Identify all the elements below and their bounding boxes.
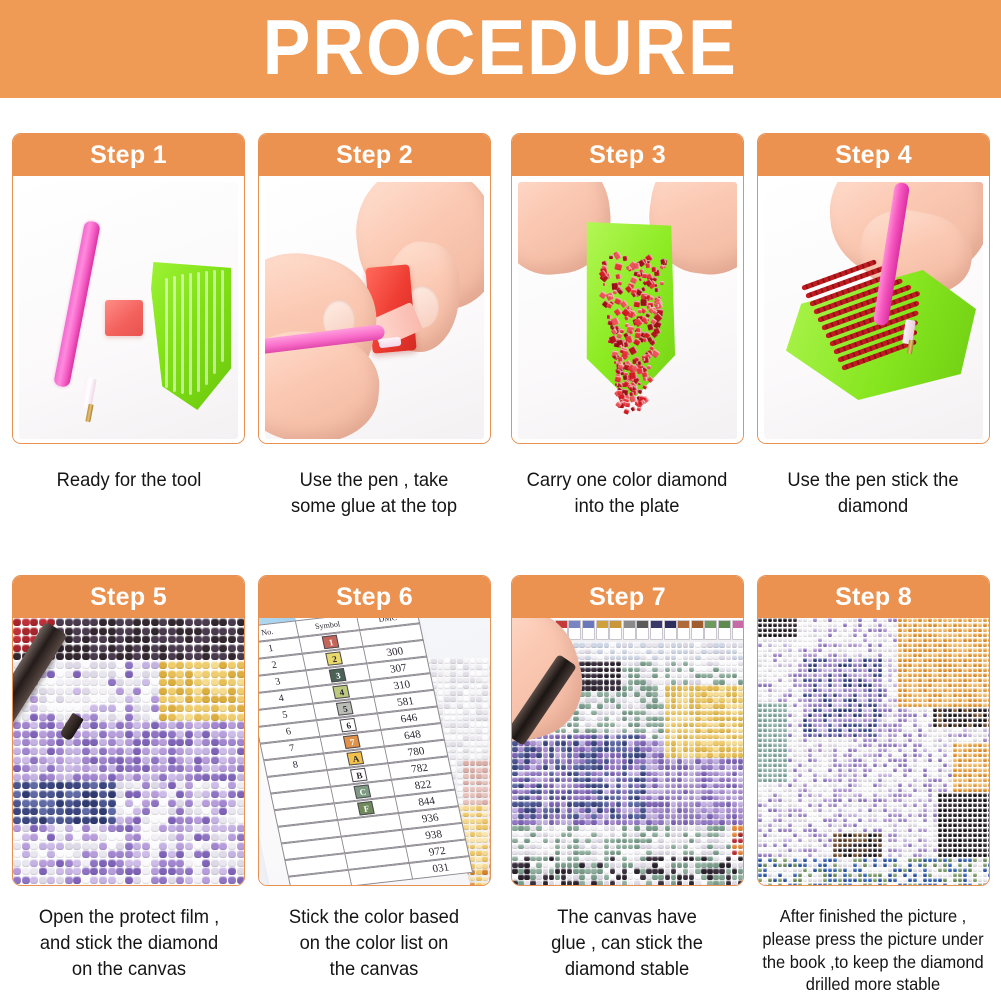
diamond-bead (82, 876, 90, 884)
diamond-bead (116, 747, 124, 755)
diamond-bead (65, 773, 73, 781)
diamond-bead (82, 730, 90, 738)
diamond-bead (883, 688, 887, 692)
diamond-bead (908, 708, 912, 712)
diamond-bead (99, 687, 107, 695)
diamond-bead (888, 648, 892, 652)
step-1-header-label: Step 1 (90, 143, 167, 168)
diamond-bead (640, 758, 646, 764)
diamond-bead (591, 667, 597, 673)
diamond-bead (883, 653, 887, 657)
red-diamond (624, 315, 629, 320)
diamond-bead (202, 635, 210, 643)
step-4-image (764, 182, 983, 439)
diamond-bead (151, 807, 159, 815)
diamond-bead (604, 758, 610, 764)
diamond-bead (634, 661, 640, 667)
diamond-bead (958, 633, 962, 637)
diamond-bead (73, 704, 81, 712)
diamond-bead (695, 649, 701, 655)
diamond-bead (908, 633, 912, 637)
diamond-bead (116, 764, 124, 772)
diamond-bead (82, 738, 90, 746)
diamond-bead (968, 668, 972, 672)
diamond-bead (726, 844, 732, 850)
diamond-bead (482, 664, 488, 670)
diamond-bead (73, 670, 81, 678)
diamond-bead (646, 758, 652, 764)
diamond-bead (888, 633, 892, 637)
diamond-bead (913, 688, 917, 692)
diamond-bead (561, 868, 567, 874)
diamond-bead (13, 730, 21, 738)
diamond-bead (30, 747, 38, 755)
diamond-bead (665, 862, 671, 868)
diamond-bead (719, 661, 725, 667)
diamond-bead (567, 819, 573, 825)
diamond-bead (585, 795, 591, 801)
diamond-bead (828, 673, 832, 677)
diamond-bead (536, 819, 542, 825)
diamond-bead (738, 673, 743, 679)
diamond-bead (463, 728, 469, 734)
diamond-bead (983, 663, 987, 667)
diamond-bead (818, 703, 822, 707)
diamond-bead (988, 663, 989, 667)
diamond-bead (82, 816, 90, 824)
diamond-bead (431, 671, 437, 677)
diamond-bead (843, 698, 847, 702)
diamond-bead (888, 658, 892, 662)
diamond-bead (476, 716, 482, 722)
diamond-bead (476, 850, 482, 856)
diamond-bead (457, 690, 463, 696)
diamond-bead (658, 789, 664, 795)
diamond-bead (683, 813, 689, 819)
diamond-bead (833, 678, 837, 682)
diamond-bead (883, 638, 887, 642)
diamond-bead (726, 655, 732, 661)
diamond-bead (543, 862, 549, 868)
diamond-bead (444, 658, 450, 664)
diamond-bead (908, 668, 912, 672)
diamond-bead (848, 668, 852, 672)
diamond-bead (873, 623, 877, 627)
diamond-bead (732, 685, 738, 691)
diamond-bead (888, 623, 892, 627)
diamond-bead (963, 698, 967, 702)
diamond-bead (536, 850, 542, 856)
diamond-bead (457, 767, 463, 773)
diamond-bead (838, 663, 842, 667)
diamond-bead (707, 825, 713, 831)
diamond-bead (634, 819, 640, 825)
diamond-bead (938, 648, 942, 652)
diamond-bead (591, 777, 597, 783)
diamond-bead (142, 799, 150, 807)
diamond-bead (689, 783, 695, 789)
diamond-bead (73, 764, 81, 772)
diamond-bead (604, 880, 610, 886)
diamond-bead (943, 653, 947, 657)
diamond-bead (530, 832, 536, 838)
diamond-bead (530, 825, 536, 831)
diamond-bead (237, 756, 244, 764)
diamond-bead (963, 673, 967, 677)
diamond-bead (689, 642, 695, 648)
diamond-bead (56, 747, 64, 755)
legend-cell (609, 620, 622, 640)
diamond-bead (555, 789, 561, 795)
diamond-bead (778, 658, 782, 662)
diamond-bead (482, 690, 488, 696)
diamond-bead (858, 633, 862, 637)
diamond-bead (457, 735, 463, 741)
diamond-bead (888, 673, 892, 677)
diamond-bead (622, 856, 628, 862)
diamond-bead (738, 716, 743, 722)
diamond-bead (778, 683, 782, 687)
diamond-bead (683, 655, 689, 661)
diamond-bead (622, 673, 628, 679)
diamond-bead (616, 777, 622, 783)
diamond-bead (763, 693, 767, 697)
diamond-bead (176, 807, 184, 815)
diamond-bead (585, 880, 591, 886)
red-diamond (653, 327, 661, 335)
diamond-bead (788, 678, 792, 682)
diamond-bead (470, 767, 476, 773)
diamond-bead (194, 876, 202, 884)
diamond-bead (893, 618, 897, 622)
diamond-bead (818, 683, 822, 687)
diamond-bead (22, 773, 30, 781)
diamond-bead (973, 643, 977, 647)
diamond-bead (39, 687, 47, 695)
diamond-bead (726, 691, 732, 697)
diamond-bead (470, 818, 476, 824)
diamond-bead (489, 684, 490, 690)
diamond-bead (658, 874, 664, 880)
diamond-bead (610, 862, 616, 868)
diamond-bead (963, 703, 967, 707)
diamond-bead (858, 668, 862, 672)
diamond-bead (211, 730, 219, 738)
diamond-bead (567, 740, 573, 746)
diamond-bead (903, 673, 907, 677)
step-7-header: Step 7 (512, 576, 743, 618)
diamond-bead (948, 648, 952, 652)
diamond-bead (610, 740, 616, 746)
diamond-bead (943, 708, 947, 712)
diamond-bead (923, 703, 927, 707)
diamond-bead (646, 850, 652, 856)
diamond-bead (13, 850, 21, 858)
diamond-bead (628, 673, 634, 679)
diamond-bead (159, 721, 167, 729)
diamond-bead (82, 764, 90, 772)
diamond-bead (463, 786, 469, 792)
diamond-bead (573, 795, 579, 801)
diamond-bead (39, 730, 47, 738)
diamond-bead (788, 658, 792, 662)
diamond-bead (168, 850, 176, 858)
diamond-bead (763, 683, 767, 687)
diamond-bead (476, 722, 482, 728)
diamond-bead (194, 833, 202, 841)
diamond-bead (803, 698, 807, 702)
diamond-bead (978, 638, 982, 642)
diamond-bead (597, 807, 603, 813)
diamond-bead (168, 816, 176, 824)
red-diamond (613, 308, 621, 316)
diamond-bead (873, 663, 877, 667)
diamond-bead (543, 838, 549, 844)
step-2-body (259, 176, 490, 444)
diamond-bead (125, 678, 133, 686)
diamond-bead (159, 687, 167, 695)
diamond-bead (848, 638, 852, 642)
diamond-bead (489, 690, 490, 696)
diamond-bead (689, 758, 695, 764)
diamond-bead (903, 638, 907, 642)
diamond-bead (671, 880, 677, 886)
diamond-bead (640, 703, 646, 709)
diamond-bead (82, 799, 90, 807)
diamond-bead (883, 673, 887, 677)
diamond-bead (610, 752, 616, 758)
diamond-bead (701, 874, 707, 880)
diamond-bead (476, 882, 482, 886)
diamond-bead (923, 658, 927, 662)
diamond-bead (658, 679, 664, 685)
diamond-bead (489, 863, 490, 869)
diamond-bead (823, 693, 827, 697)
diamond-bead (671, 752, 677, 758)
diamond-bead (518, 758, 524, 764)
diamond-bead (803, 653, 807, 657)
diamond-bead (585, 819, 591, 825)
diamond-bead (176, 859, 184, 867)
diamond-bead (622, 838, 628, 844)
diamond-bead (838, 673, 842, 677)
diamond-bead (808, 623, 812, 627)
diamond-bead (168, 635, 176, 643)
diamond-bead (116, 773, 124, 781)
tray-groove (221, 270, 224, 362)
diamond-bead (159, 661, 167, 669)
diamond-bead (671, 856, 677, 862)
diamond-bead (116, 670, 124, 678)
diamond-bead (983, 633, 987, 637)
diamond-bead (168, 799, 176, 807)
diamond-bead (833, 653, 837, 657)
diamond-bead (108, 747, 116, 755)
diamond-bead (813, 663, 817, 667)
diamond-bead (843, 703, 847, 707)
diamond-bead (671, 655, 677, 661)
diamond-bead (591, 789, 597, 795)
diamond-bead (561, 728, 567, 734)
diamond-bead (585, 777, 591, 783)
diamond-bead (652, 649, 658, 655)
diamond-bead (151, 756, 159, 764)
diamond-bead (99, 695, 107, 703)
diamond-bead (938, 653, 942, 657)
diamond-bead (677, 862, 683, 868)
diamond-bead (22, 790, 30, 798)
diamond-bead (863, 688, 867, 692)
diamond-bead (82, 618, 90, 626)
diamond-bead (903, 653, 907, 657)
diamond-bead (585, 783, 591, 789)
diamond-bead (536, 856, 542, 862)
diamond-bead (707, 832, 713, 838)
diamond-bead (713, 752, 719, 758)
diamond-bead (973, 618, 977, 622)
diamond-bead (713, 783, 719, 789)
diamond-bead (689, 716, 695, 722)
legend-cell (636, 620, 649, 640)
diamond-bead (591, 868, 597, 874)
diamond-bead (628, 691, 634, 697)
diamond-bead (39, 695, 47, 703)
diamond-bead (610, 874, 616, 880)
diamond-bead (237, 764, 244, 772)
diamond-bead (978, 683, 982, 687)
diamond-bead (983, 683, 987, 687)
diamond-bead (798, 638, 802, 642)
diamond-bead (968, 683, 972, 687)
diamond-bead (579, 832, 585, 838)
step-4-header-label: Step 4 (835, 143, 912, 168)
diamond-bead (948, 673, 952, 677)
diamond-bead (65, 833, 73, 841)
diamond-bead (116, 799, 124, 807)
diamond-bead (470, 696, 476, 702)
diamond-bead (450, 703, 456, 709)
diamond-bead (707, 728, 713, 734)
diamond-bead (585, 710, 591, 716)
diamond-bead (13, 738, 21, 746)
diamond-bead (194, 756, 202, 764)
diamond-bead (963, 683, 967, 687)
diamond-bead (813, 638, 817, 642)
diamond-bead (763, 633, 767, 637)
diamond-bead (185, 816, 193, 824)
diamond-bead (652, 783, 658, 789)
diamond-bead (457, 696, 463, 702)
red-diamond (614, 262, 622, 270)
diamond-bead (73, 652, 81, 660)
diamond-bead (176, 713, 184, 721)
diamond-bead (99, 678, 107, 686)
legend-color-swatch (624, 621, 635, 628)
diamond-bead (893, 653, 897, 657)
diamond-bead (151, 859, 159, 867)
diamond-bead (185, 747, 193, 755)
diamond-bead (142, 790, 150, 798)
diamond-bead (579, 813, 585, 819)
diamond-bead (628, 752, 634, 758)
diamond-bead (518, 844, 524, 850)
diamond-bead (640, 801, 646, 807)
diamond-bead (597, 777, 603, 783)
diamond-bead (482, 869, 488, 875)
diamond-bead (732, 649, 738, 655)
diamond-bead (185, 790, 193, 798)
diamond-bead (853, 698, 857, 702)
diamond-bead (665, 642, 671, 648)
diamond-bead (228, 807, 236, 815)
diamond-bead (928, 653, 932, 657)
diamond-bead (457, 792, 463, 798)
diamond-bead (878, 683, 882, 687)
diamond-bead (450, 671, 456, 677)
diamond-bead (968, 638, 972, 642)
diamond-bead (616, 844, 622, 850)
diamond-bead (228, 721, 236, 729)
diamond-bead (211, 756, 219, 764)
diamond-bead (665, 856, 671, 862)
legend-color-swatch (610, 621, 621, 628)
diamond-bead (30, 721, 38, 729)
diamond-bead (646, 832, 652, 838)
diamond-bead (151, 842, 159, 850)
diamond-bead (99, 764, 107, 772)
diamond-bead (683, 722, 689, 728)
diamond-bead (476, 696, 482, 702)
diamond-bead (591, 655, 597, 661)
diamond-bead (813, 688, 817, 692)
diamond-bead (948, 668, 952, 672)
diamond-bead (683, 746, 689, 752)
diamond-bead (573, 783, 579, 789)
diamond-bead (726, 679, 732, 685)
diamond-bead (658, 777, 664, 783)
diamond-bead (707, 856, 713, 862)
diamond-bead (202, 652, 210, 660)
diamond-bead (671, 783, 677, 789)
diamond-bead (828, 658, 832, 662)
diamond-bead (646, 844, 652, 850)
diamond-bead (646, 728, 652, 734)
diamond-bead (978, 618, 982, 622)
diamond-bead (237, 747, 244, 755)
diamond-bead (512, 746, 518, 752)
step-1-header: Step 1 (13, 134, 244, 176)
diamond-bead (646, 746, 652, 752)
diamond-bead (604, 856, 610, 862)
diamond-bead (803, 618, 807, 622)
legend-cell (732, 620, 743, 640)
diamond-bead (585, 716, 591, 722)
diamond-bead (133, 627, 141, 635)
diamond-bead (689, 746, 695, 752)
diamond-bead (159, 738, 167, 746)
diamond-bead (512, 771, 518, 777)
diamond-bead (616, 691, 622, 697)
diamond-bead (567, 783, 573, 789)
diamond-bead (983, 678, 987, 682)
diamond-bead (604, 679, 610, 685)
diamond-bead (176, 721, 184, 729)
diamond-bead (683, 667, 689, 673)
diamond-bead (30, 738, 38, 746)
diamond-bead (211, 824, 219, 832)
diamond-bead (512, 789, 518, 795)
diamond-bead (988, 618, 989, 622)
